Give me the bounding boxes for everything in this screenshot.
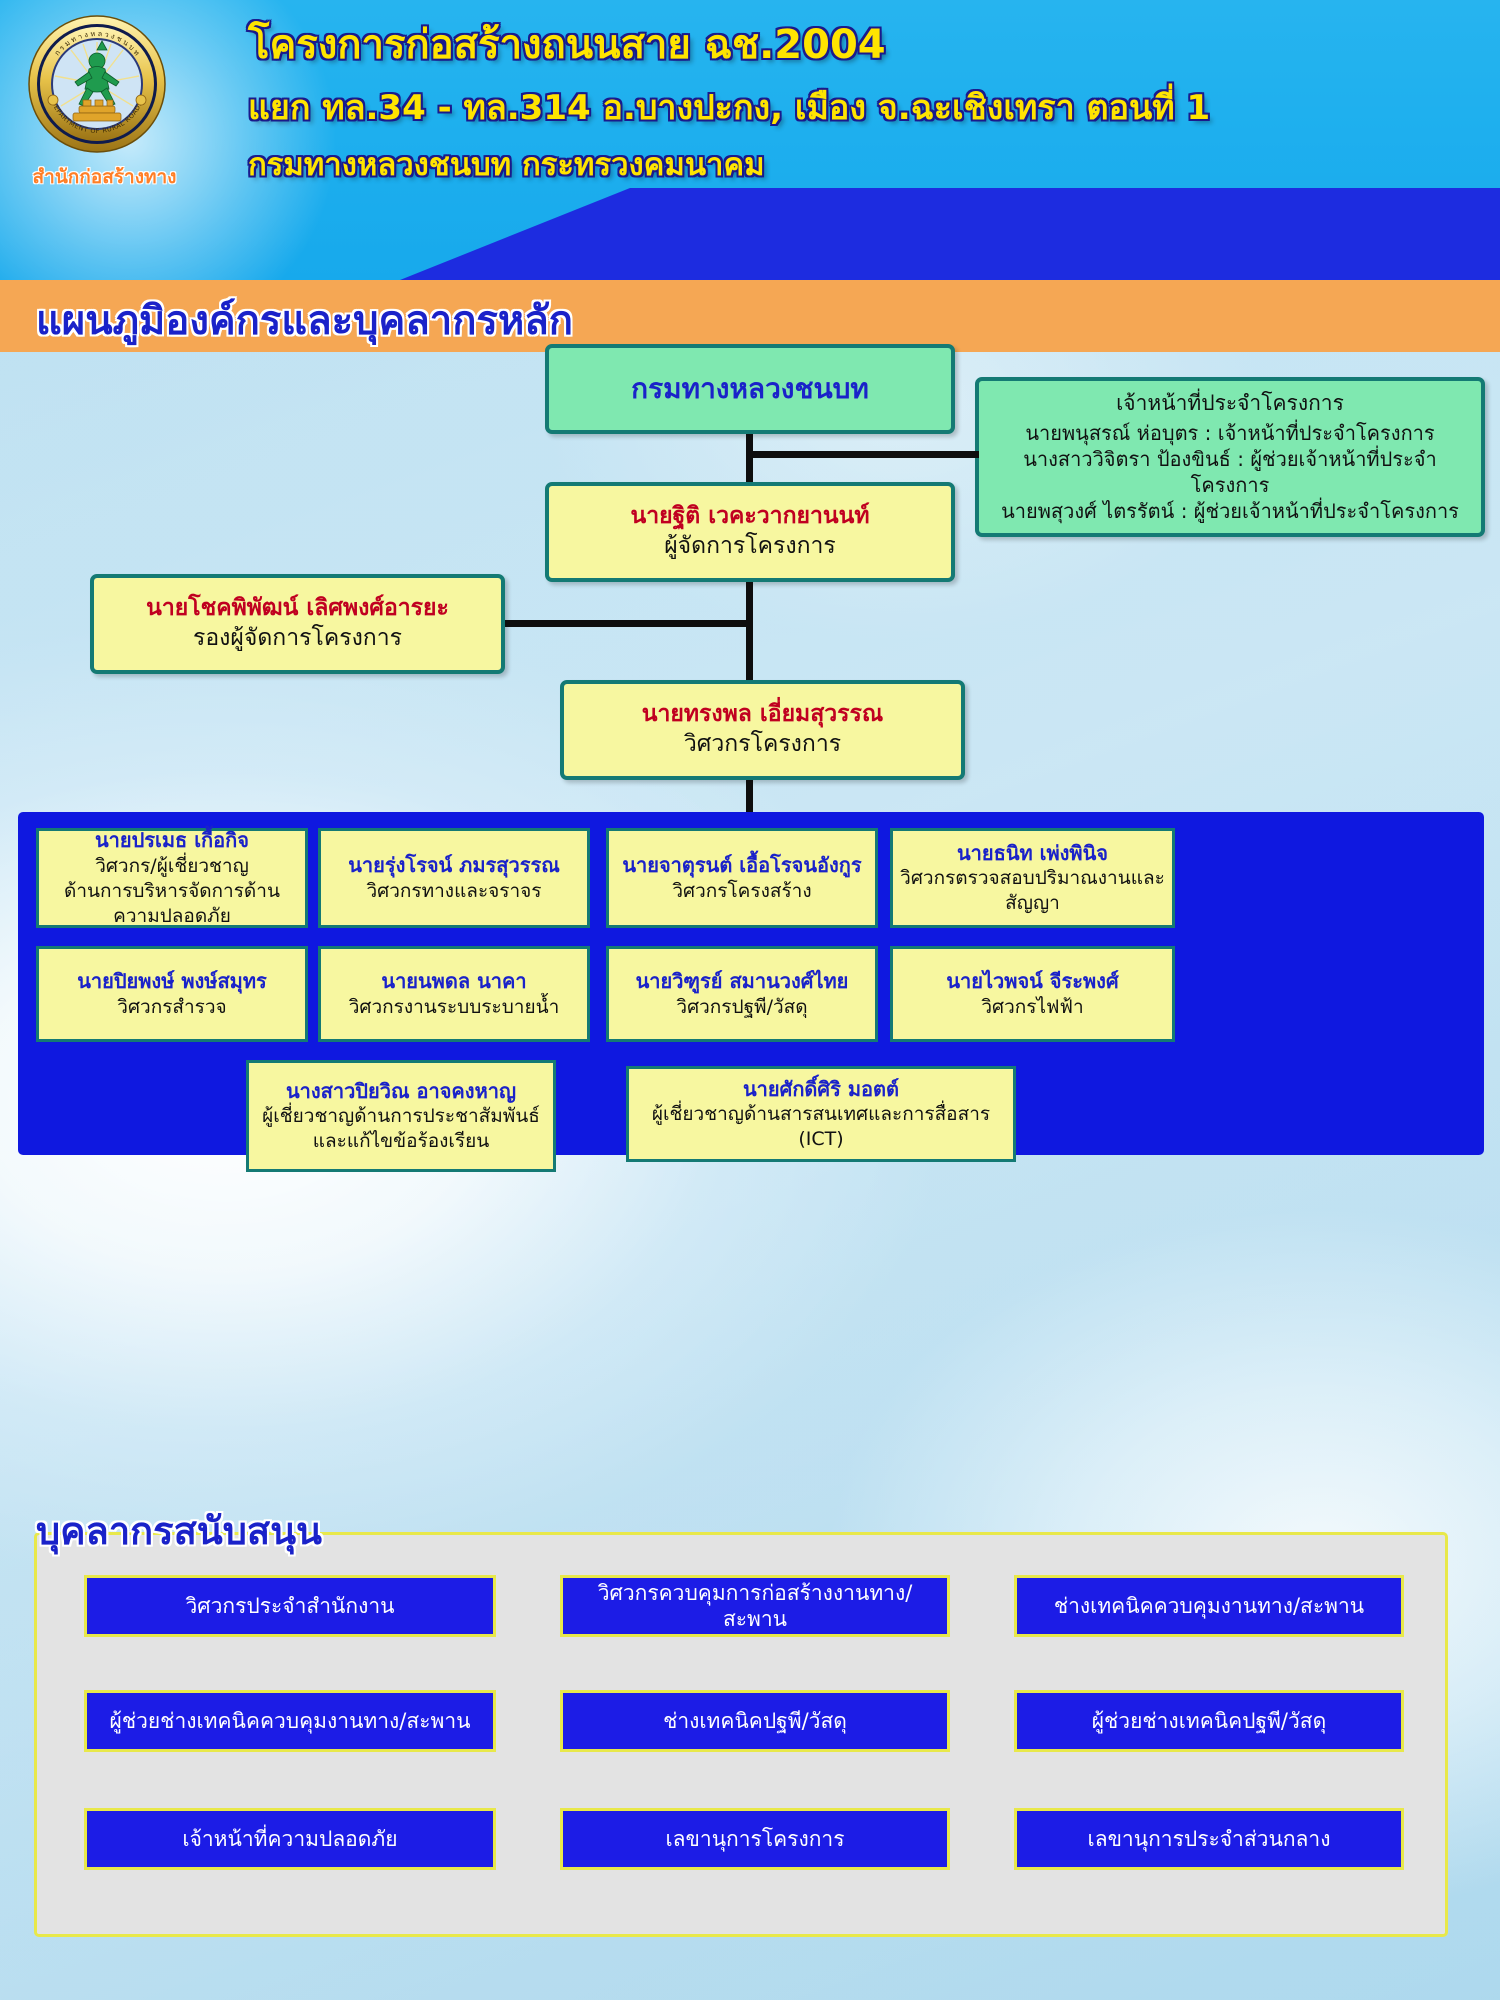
support-frame: วิศวกรประจำสำนักงาน วิศวกรควบคุมการก่อสร…: [34, 1532, 1448, 1937]
department-logo: ก ร ม ท า ง ห ล ว ง ช น บ ท DEPARTMENT O…: [22, 12, 172, 192]
rural-roads-seal-icon: ก ร ม ท า ง ห ล ว ง ช น บ ท DEPARTMENT O…: [27, 14, 167, 154]
section-bar-org-chart: แผนภูมิองค์กรและบุคลากรหลัก: [0, 280, 1500, 352]
project-staff-member-1: นายพนุสรณ์ ห่อบุตร : เจ้าหน้าที่ประจำโคร…: [1025, 420, 1434, 446]
deputy-manager-role: รองผู้จัดการโครงการ: [193, 624, 402, 654]
project-manager-role: ผู้จัดการโครงการ: [664, 532, 836, 562]
specialist-1-name: นายศักดิ์ศิริ มอตต์: [743, 1076, 899, 1102]
team-member-0-role: วิศวกร/ผู้เชี่ยวชาญ: [95, 854, 249, 879]
support-item-8[interactable]: เลขานุการประจำส่วนกลาง: [1014, 1808, 1404, 1870]
deputy-manager-name: นายโชคพิพัฒน์ เลิศพงศ์อารยะ: [146, 594, 449, 624]
project-title-line3: กรมทางหลวงชนบท กระทรวงคมนาคม: [248, 144, 1478, 187]
support-item-6[interactable]: เจ้าหน้าที่ความปลอดภัย: [84, 1808, 496, 1870]
team-member-6-role: วิศวกรปฐพี/วัสดุ: [676, 995, 807, 1020]
team-panel: นายปรเมธ เกื้อกิจ วิศวกร/ผู้เชี่ยวชาญ ด้…: [18, 812, 1484, 1155]
team-member-1-name: นายรุ่งโรจน์ ภมรสุวรรณ: [348, 852, 560, 878]
project-staff-heading: เจ้าหน้าที่ประจำโครงการ: [1116, 390, 1344, 417]
org-chart: กรมทางหลวงชนบท เจ้าหน้าที่ประจำโครงการ น…: [0, 352, 1500, 1452]
project-title-line2: แยก ทล.34 - ทล.314 อ.บางปะกง, เมือง จ.ฉะ…: [248, 85, 1478, 132]
section-title: แผนภูมิองค์กรและบุคลากรหลัก: [36, 288, 573, 352]
team-member-0-name: นายปรเมธ เกื้อกิจ: [95, 827, 249, 853]
connector-engineer-to-team: [746, 780, 753, 816]
support-item-3[interactable]: ผู้ช่วยช่างเทคนิคควบคุมงานทาง/สะพาน: [84, 1690, 496, 1752]
team-member-7-name: นายไวพจน์ จีระพงศ์: [946, 968, 1118, 994]
support-personnel-section: บุคลากรสนับสนุน วิศวกรประจำสำนักงาน วิศว…: [0, 1500, 1500, 1980]
specialist-1-role: ผู้เชี่ยวชาญด้านสารสนเทศและการสื่อสาร (I…: [635, 1102, 1007, 1152]
node-department[interactable]: กรมทางหลวงชนบท: [545, 344, 955, 434]
project-title-line1: โครงการก่อสร้างถนนสาย ฉช.2004: [248, 18, 1478, 73]
specialist-0-role: ผู้เชี่ยวชาญด้านการประชาสัมพันธ์: [262, 1104, 540, 1129]
project-staff-member-2: นางสาววิจิตรา ป้องขินธ์ : ผู้ช่วยเจ้าหน้…: [989, 446, 1471, 498]
header-wedge-decoration: [400, 188, 1500, 280]
node-project-staff[interactable]: เจ้าหน้าที่ประจำโครงการ นายพนุสรณ์ ห่อบุ…: [975, 377, 1485, 537]
support-item-2[interactable]: ช่างเทคนิคควบคุมงานทาง/สะพาน: [1014, 1575, 1404, 1637]
team-member-4-name: นายปิยพงษ์ พงษ์สมุทร: [77, 968, 267, 994]
team-member-5[interactable]: นายนพดล นาคา วิศวกรงานระบบระบายน้ำ: [318, 946, 590, 1042]
team-member-2-role: วิศวกรโครงสร้าง: [672, 879, 811, 904]
team-member-4-role: วิศวกรสำรวจ: [117, 995, 226, 1020]
team-member-7-role: วิศวกรไฟฟ้า: [981, 995, 1083, 1020]
project-engineer-role: วิศวกรโครงการ: [684, 730, 841, 760]
team-member-0-role2: ด้านการบริหารจัดการด้านความปลอดภัย: [45, 879, 299, 929]
connector-manager-to-deputy: [505, 620, 753, 627]
team-member-4[interactable]: นายปิยพงษ์ พงษ์สมุทร วิศวกรสำรวจ: [36, 946, 308, 1042]
page-header: ก ร ม ท า ง ห ล ว ง ช น บ ท DEPARTMENT O…: [0, 0, 1500, 280]
team-member-2[interactable]: นายจาตุรนต์ เอื้อโรจนอังกูร วิศวกรโครงสร…: [606, 828, 878, 928]
team-member-1[interactable]: นายรุ่งโรจน์ ภมรสุวรรณ วิศวกรทางและจราจร: [318, 828, 590, 928]
team-member-3-name: นายธนิท เพ่งพินิจ: [957, 840, 1108, 866]
team-member-0[interactable]: นายปรเมธ เกื้อกิจ วิศวกร/ผู้เชี่ยวชาญ ด้…: [36, 828, 308, 928]
specialist-0[interactable]: นางสาวปิยวิณ อาจคงหาญ ผู้เชี่ยวชาญด้านกา…: [246, 1060, 556, 1172]
support-item-4[interactable]: ช่างเทคนิคปฐพี/วัสดุ: [560, 1690, 950, 1752]
support-item-7[interactable]: เลขานุการโครงการ: [560, 1808, 950, 1870]
support-item-5[interactable]: ผู้ช่วยช่างเทคนิคปฐพี/วัสดุ: [1014, 1690, 1404, 1752]
header-title-block: โครงการก่อสร้างถนนสาย ฉช.2004 แยก ทล.34 …: [248, 18, 1478, 187]
specialist-1[interactable]: นายศักดิ์ศิริ มอตต์ ผู้เชี่ยวชาญด้านสารส…: [626, 1066, 1016, 1162]
node-deputy-manager[interactable]: นายโชคพิพัฒน์ เลิศพงศ์อารยะ รองผู้จัดการ…: [90, 574, 505, 674]
team-member-1-role: วิศวกรทางและจราจร: [366, 879, 541, 904]
team-member-6-name: นายวิฑูรย์ สมานวงศ์ไทย: [636, 968, 849, 994]
team-member-2-name: นายจาตุรนต์ เอื้อโรจนอังกูร: [622, 852, 861, 878]
team-member-6[interactable]: นายวิฑูรย์ สมานวงศ์ไทย วิศวกรปฐพี/วัสดุ: [606, 946, 878, 1042]
project-engineer-name: นายทรงพล เอี่ยมสุวรรณ: [642, 700, 883, 730]
team-member-5-role: วิศวกรงานระบบระบายน้ำ: [349, 995, 560, 1020]
specialist-0-name: นางสาวปิยวิณ อาจคงหาญ: [286, 1078, 516, 1104]
logo-caption: สำนักก่อสร้างทาง: [22, 162, 187, 192]
project-staff-member-3: นายพสุวงศ์ ไตรรัตน์ : ผู้ช่วยเจ้าหน้าที่…: [1001, 498, 1459, 524]
support-item-0[interactable]: วิศวกรประจำสำนักงาน: [84, 1575, 496, 1637]
support-section-title: บุคลากรสนับสนุน: [36, 1500, 322, 1561]
node-department-title: กรมทางหลวงชนบท: [631, 371, 869, 407]
node-project-engineer[interactable]: นายทรงพล เอี่ยมสุวรรณ วิศวกรโครงการ: [560, 680, 965, 780]
node-project-manager[interactable]: นายฐิติ เวคะวากยานนท์ ผู้จัดการโครงการ: [545, 482, 955, 582]
team-member-3-role: วิศวกรตรวจสอบปริมาณงานและสัญญา: [899, 866, 1166, 916]
connector-manager-to-engineer: [746, 582, 753, 680]
project-manager-name: นายฐิติ เวคะวากยานนท์: [630, 502, 869, 532]
connector-root-to-staff: [746, 451, 979, 458]
team-member-5-name: นายนพดล นาคา: [381, 968, 526, 994]
team-member-3[interactable]: นายธนิท เพ่งพินิจ วิศวกรตรวจสอบปริมาณงาน…: [890, 828, 1175, 928]
connector-root-to-manager: [746, 434, 753, 482]
support-item-1[interactable]: วิศวกรควบคุมการก่อสร้างงานทาง/สะพาน: [560, 1575, 950, 1637]
specialist-0-role2: และแก้ไขข้อร้องเรียน: [313, 1129, 490, 1154]
team-member-7[interactable]: นายไวพจน์ จีระพงศ์ วิศวกรไฟฟ้า: [890, 946, 1175, 1042]
